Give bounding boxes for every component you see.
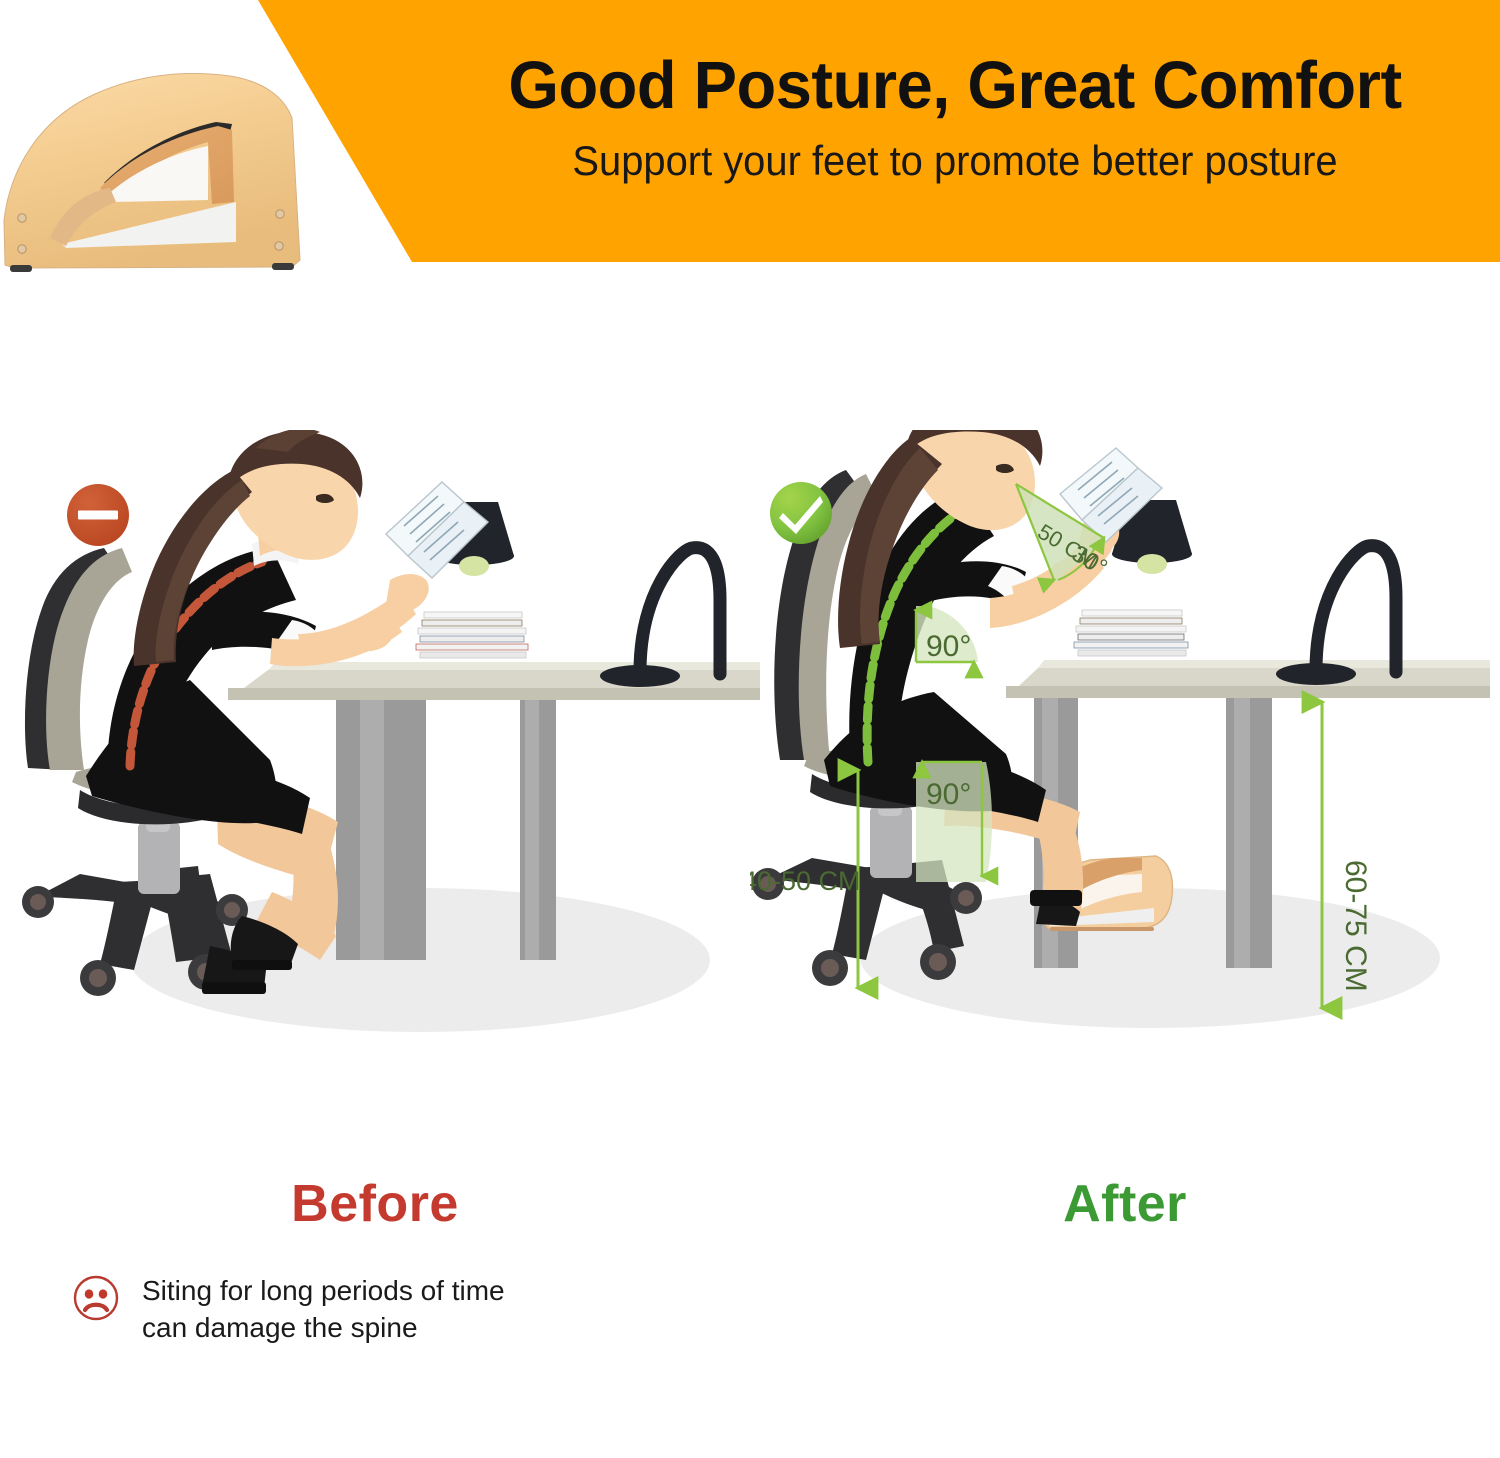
heading-before: Before [0, 1178, 750, 1230]
product-photo-footrest [0, 60, 315, 280]
book-stack [1074, 610, 1188, 656]
footer-column-before: Before Siting for long periods of time c… [0, 1150, 750, 1356]
illustration-bad-posture [20, 430, 760, 1090]
footer-area: Before Siting for long periods of time c… [0, 1150, 1500, 1356]
note-text-before: Siting for long periods of time can dama… [142, 1272, 505, 1346]
footer-column-after: After Ergonomic foot supoort for working… [750, 1150, 1500, 1356]
annotation-knee-angle: 90° [916, 762, 992, 882]
page-title: Good Posture, Great Comfort [446, 52, 1465, 119]
label-knee-angle: 90° [926, 778, 971, 811]
book-stack [416, 612, 528, 658]
bad-posture-drawing [20, 430, 760, 1090]
label-elbow-angle: 90° [926, 630, 971, 663]
annotation-elbow-angle: 90° [916, 606, 978, 663]
note-before: Siting for long periods of time can dama… [72, 1272, 505, 1346]
heading-after: After [750, 1178, 1500, 1230]
label-seat-height: 40-50 CM [750, 866, 861, 896]
check-badge-icon [768, 480, 834, 546]
header-text-block: Good Posture, Great Comfort Support your… [430, 52, 1480, 183]
minus-badge-icon [65, 482, 131, 548]
good-posture-drawing: 50 CM 30° 90° 90° 40-50 CM [750, 430, 1490, 1090]
comparison-area: 50 CM 30° 90° 90° 40-50 CM [0, 430, 1500, 1120]
desk-lamp [1112, 500, 1396, 685]
label-desk-height: 60-75 CM [1339, 860, 1372, 992]
page-subtitle: Support your feet to promote better post… [456, 139, 1454, 183]
sad-face-icon [72, 1274, 120, 1322]
illustration-good-posture: 50 CM 30° 90° 90° 40-50 CM [750, 430, 1490, 1090]
